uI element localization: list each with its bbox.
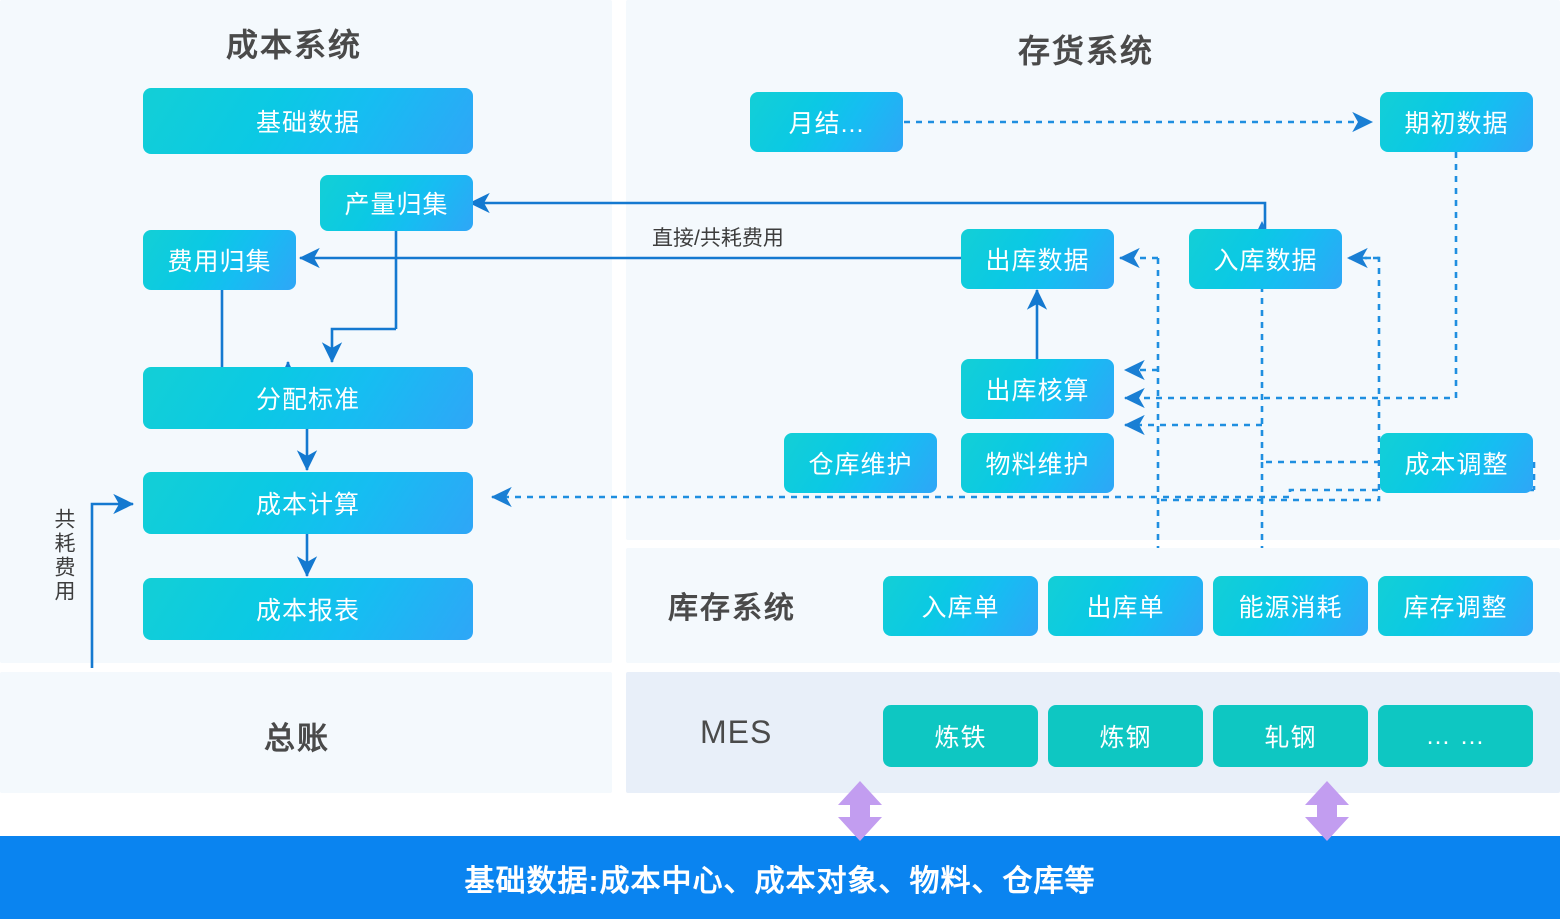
node-outbound-accounting[interactable]: 出库核算: [961, 359, 1114, 419]
footer-text: 基础数据:成本中心、成本对象、物料、仓库等: [465, 856, 1096, 900]
purple-double-arrow-icon-left: [824, 780, 896, 842]
node-stock-energy-consumption[interactable]: 能源消耗: [1213, 576, 1368, 636]
purple-double-arrow-icon-right: [1291, 780, 1363, 842]
diagram-canvas: 成本系统 存货系统 总账 库存系统 MES: [0, 0, 1560, 919]
node-mes-ironmaking[interactable]: 炼铁: [883, 705, 1038, 767]
node-basic-data[interactable]: 基础数据: [143, 88, 473, 154]
node-material-maintenance[interactable]: 物料维护: [961, 433, 1114, 493]
node-cost-adjustment[interactable]: 成本调整: [1380, 433, 1533, 493]
node-cost-report[interactable]: 成本报表: [143, 578, 473, 640]
node-mes-more[interactable]: … …: [1378, 705, 1533, 767]
node-expense-collect[interactable]: 费用归集: [143, 230, 296, 290]
node-warehouse-maintenance[interactable]: 仓库维护: [784, 433, 937, 493]
title-general-ledger: 总账: [264, 713, 330, 758]
title-stock-system: 库存系统: [668, 583, 796, 627]
node-month-end[interactable]: 月结...: [750, 92, 903, 152]
node-stock-adjustment[interactable]: 库存调整: [1378, 576, 1533, 636]
node-outbound-data[interactable]: 出库数据: [961, 229, 1114, 289]
label-direct-shared-expense: 直接/共耗费用: [652, 222, 784, 252]
node-output-collect[interactable]: 产量归集: [320, 175, 473, 231]
node-mes-steelmaking[interactable]: 炼钢: [1048, 705, 1203, 767]
footer-basic-data-bar: 基础数据:成本中心、成本对象、物料、仓库等: [0, 836, 1560, 919]
node-stock-outbound-order[interactable]: 出库单: [1048, 576, 1203, 636]
node-opening-data[interactable]: 期初数据: [1380, 92, 1533, 152]
title-cost-system: 成本系统: [226, 20, 362, 66]
title-inventory-system: 存货系统: [1018, 26, 1154, 72]
node-cost-calc[interactable]: 成本计算: [143, 472, 473, 534]
node-alloc-standard[interactable]: 分配标准: [143, 367, 473, 429]
node-stock-inbound-order[interactable]: 入库单: [883, 576, 1038, 636]
node-mes-rolling[interactable]: 轧钢: [1213, 705, 1368, 767]
title-mes: MES: [700, 714, 772, 751]
label-shared-expense: 共耗费用: [48, 508, 78, 604]
node-inbound-data[interactable]: 入库数据: [1189, 229, 1342, 289]
